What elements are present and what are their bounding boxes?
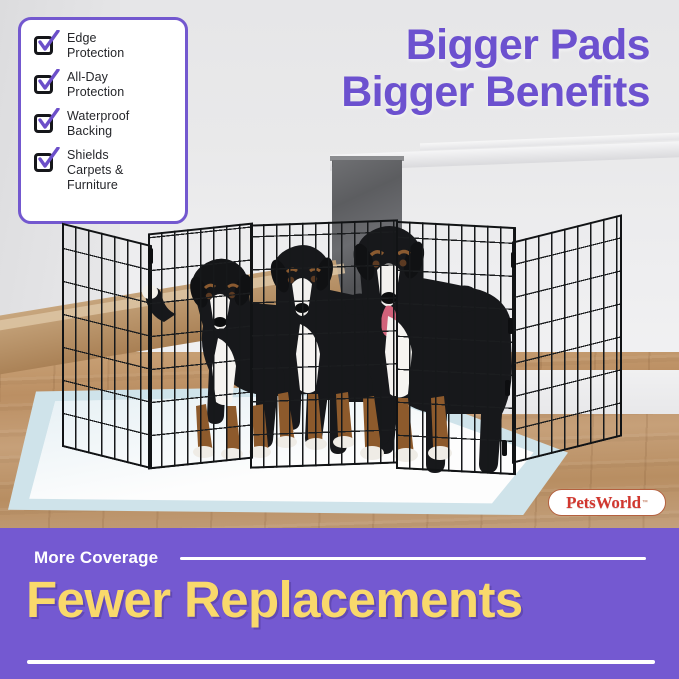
pen-panel-center bbox=[250, 219, 398, 468]
pen-panel-left-front bbox=[148, 222, 253, 469]
pen-hinge-middle bbox=[508, 318, 513, 334]
pen-hinge-bottom bbox=[502, 440, 507, 456]
product-marketing-image: Edge Protection All-Day Protection Water… bbox=[0, 0, 679, 679]
wire-playpen bbox=[0, 0, 679, 528]
pen-hinge-lower bbox=[505, 380, 510, 396]
pen-panel-right-rear bbox=[512, 214, 622, 463]
product-scene-photo bbox=[0, 0, 679, 528]
banner-rule-bottom bbox=[27, 660, 655, 664]
banner-rule-top bbox=[180, 557, 646, 560]
banner-kicker-row: More Coverage bbox=[34, 548, 646, 568]
pen-hinge-top bbox=[511, 252, 516, 268]
pen-hinge-left bbox=[148, 248, 153, 264]
pen-panel-left-rear bbox=[62, 223, 152, 469]
banner-headline: Fewer Replacements bbox=[26, 572, 656, 628]
pen-panel-right-front bbox=[396, 221, 516, 475]
banner-kicker: More Coverage bbox=[34, 548, 158, 568]
bottom-banner: More Coverage Fewer Replacements bbox=[0, 528, 679, 679]
